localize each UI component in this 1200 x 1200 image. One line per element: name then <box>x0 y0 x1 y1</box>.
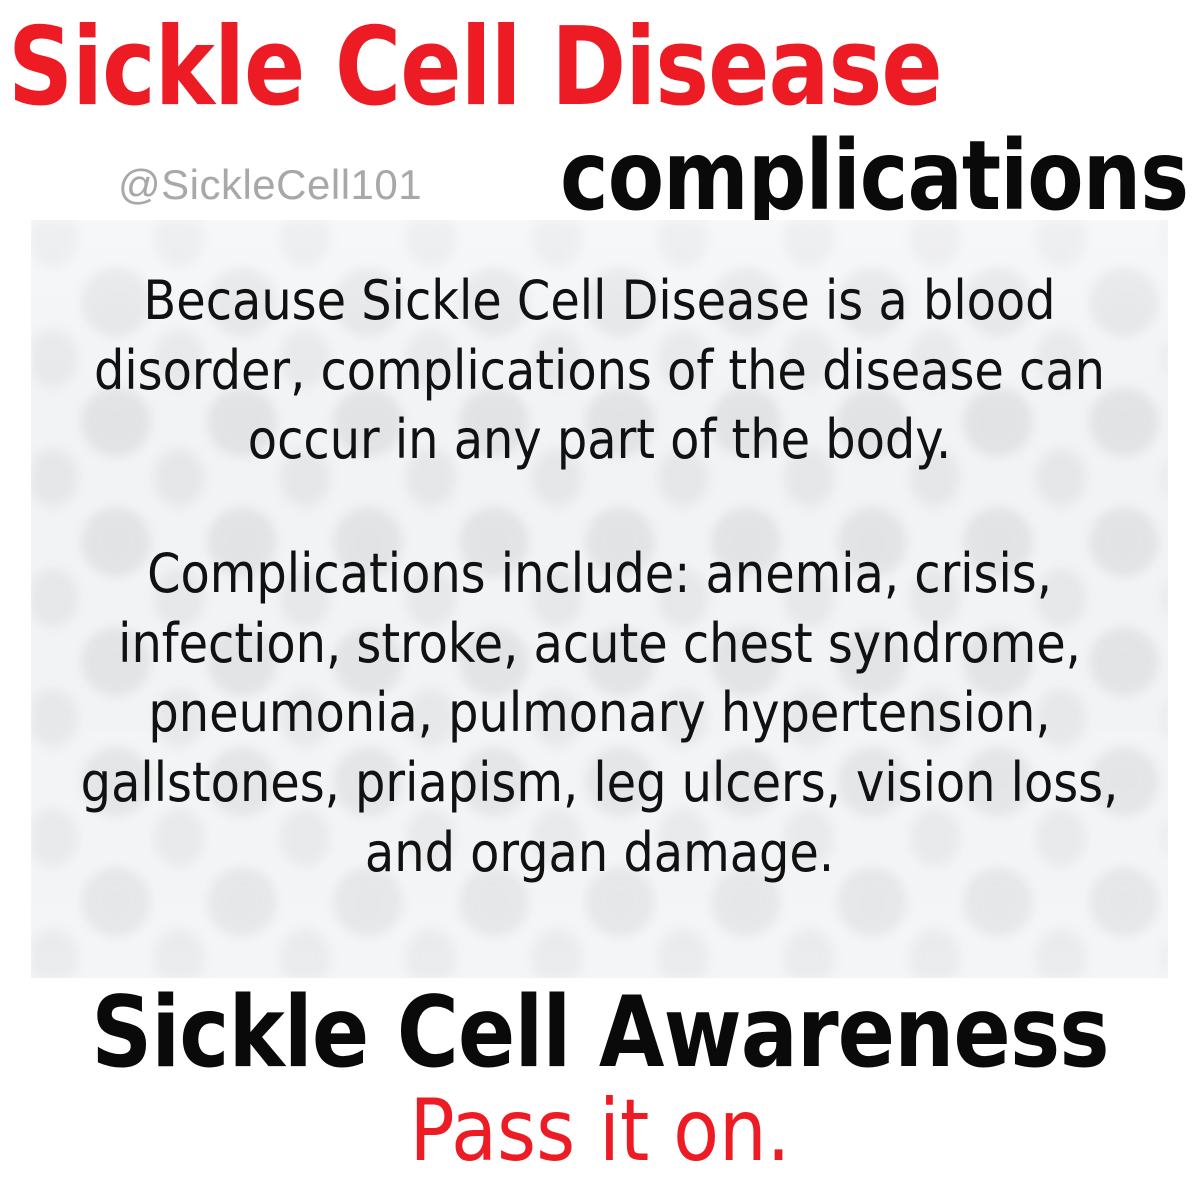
social-handle: @SickleCell101 <box>118 164 422 206</box>
content-panel: Because Sickle Cell Disease is a blood d… <box>31 220 1168 978</box>
panel-text-block: Because Sickle Cell Disease is a blood d… <box>31 220 1168 978</box>
poster-footer: Sickle Cell Awareness Pass it on. <box>0 978 1200 1200</box>
poster-header: Sickle Cell Disease complications @Sickl… <box>0 0 1200 222</box>
page-title-primary: Sickle Cell Disease <box>8 14 942 122</box>
page-title-secondary: complications <box>560 128 1188 224</box>
poster-canvas: Sickle Cell Disease complications @Sickl… <box>0 0 1200 1200</box>
awareness-headline: Sickle Cell Awareness <box>24 984 1176 1082</box>
body-paragraph-complications: Complications include: anemia, crisis, i… <box>79 539 1120 887</box>
body-paragraph-intro: Because Sickle Cell Disease is a blood d… <box>79 266 1120 475</box>
call-to-action-text: Pass it on. <box>18 1088 1182 1174</box>
